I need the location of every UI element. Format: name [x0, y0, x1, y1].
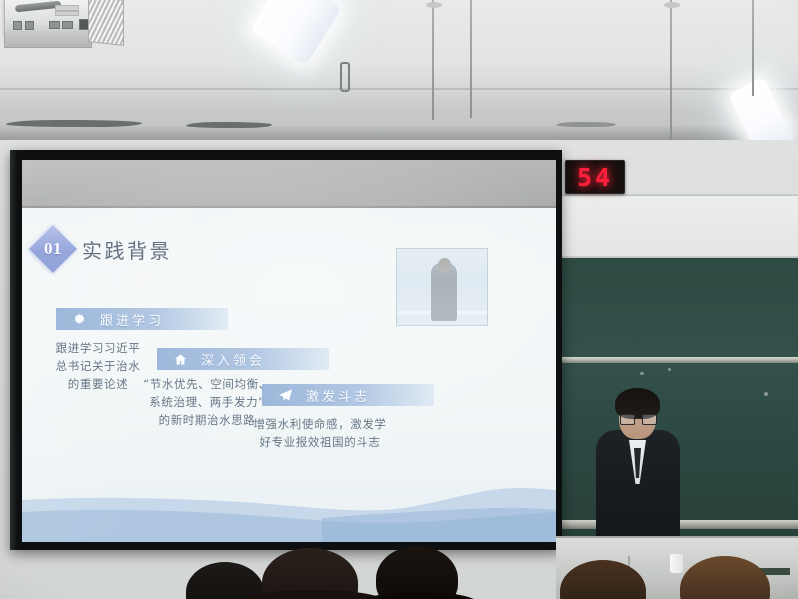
- ceiling-projector: [4, 0, 92, 34]
- projector-port: [49, 21, 60, 29]
- classroom-scene: 54 01 实践背景: [0, 0, 798, 599]
- hanging-rod: [752, 0, 754, 96]
- blurb-line: 系统治理、两手发力”: [132, 394, 282, 412]
- slide-banner-1-label: 跟进学习: [100, 310, 164, 329]
- paint-peel: [186, 122, 272, 128]
- wall-panel: [556, 196, 798, 260]
- ink-wash-mountain-graphic: [22, 456, 556, 542]
- slide-title: 实践背景: [82, 235, 172, 264]
- slide-banner-1: 跟进学习: [56, 308, 228, 330]
- slide-top-rail: [22, 160, 556, 208]
- blackboard-divider: [556, 357, 798, 363]
- blurb-line: 好专业报效祖国的斗志: [240, 434, 400, 452]
- chalk-mark: [640, 372, 644, 375]
- slide-blurb-3: 增强水利使命感，激发学好专业报效祖国的斗志: [240, 416, 400, 452]
- hanging-rod: [432, 0, 434, 120]
- ceiling-plate: [664, 2, 680, 8]
- gear-icon: [68, 313, 90, 326]
- ceiling-vent-grille: [88, 0, 124, 46]
- hanging-rod: [470, 0, 472, 118]
- ceiling-hook: [340, 62, 350, 92]
- presentation-slide: 01 实践背景 跟进学习 跟进学习习近平总书记关于治水的重要论述: [22, 160, 556, 542]
- photo-haze-overlay: [397, 249, 487, 325]
- blurb-line: “节水优先、空间均衡、: [132, 376, 282, 394]
- leader-photo: [396, 248, 488, 326]
- paper-plane-icon: [274, 388, 296, 403]
- slide-banner-3: 激发斗志: [262, 384, 434, 406]
- countdown-timer: 54: [565, 160, 625, 194]
- projector-port: [62, 21, 73, 29]
- hanging-rod: [670, 0, 672, 142]
- projector-port: [25, 21, 34, 30]
- glasses-icon: [620, 414, 655, 423]
- blurb-line: 跟进学习习近平: [30, 340, 166, 358]
- projector-vent-slot: [55, 11, 79, 16]
- slide-banner-2-label: 深入领会: [201, 350, 265, 369]
- paint-peel: [556, 122, 616, 127]
- slide-banner-2: 深入领会: [157, 348, 329, 370]
- projector-housing: [4, 31, 92, 48]
- ceiling-plate: [426, 2, 442, 8]
- countdown-timer-value: 54: [577, 163, 613, 192]
- paper-cup: [670, 554, 683, 573]
- chalk-mark: [764, 392, 768, 396]
- blurb-line: 增强水利使命感，激发学: [240, 416, 400, 434]
- chalk-mark: [668, 368, 671, 371]
- projector-port: [13, 21, 22, 30]
- section-number-text: 01: [36, 232, 70, 266]
- home-icon: [169, 353, 191, 366]
- blurb-line: 总书记关于治水: [30, 358, 166, 376]
- slide-banner-3-label: 激发斗志: [306, 386, 370, 405]
- paint-peel: [6, 120, 142, 127]
- desk-edge: [556, 536, 798, 538]
